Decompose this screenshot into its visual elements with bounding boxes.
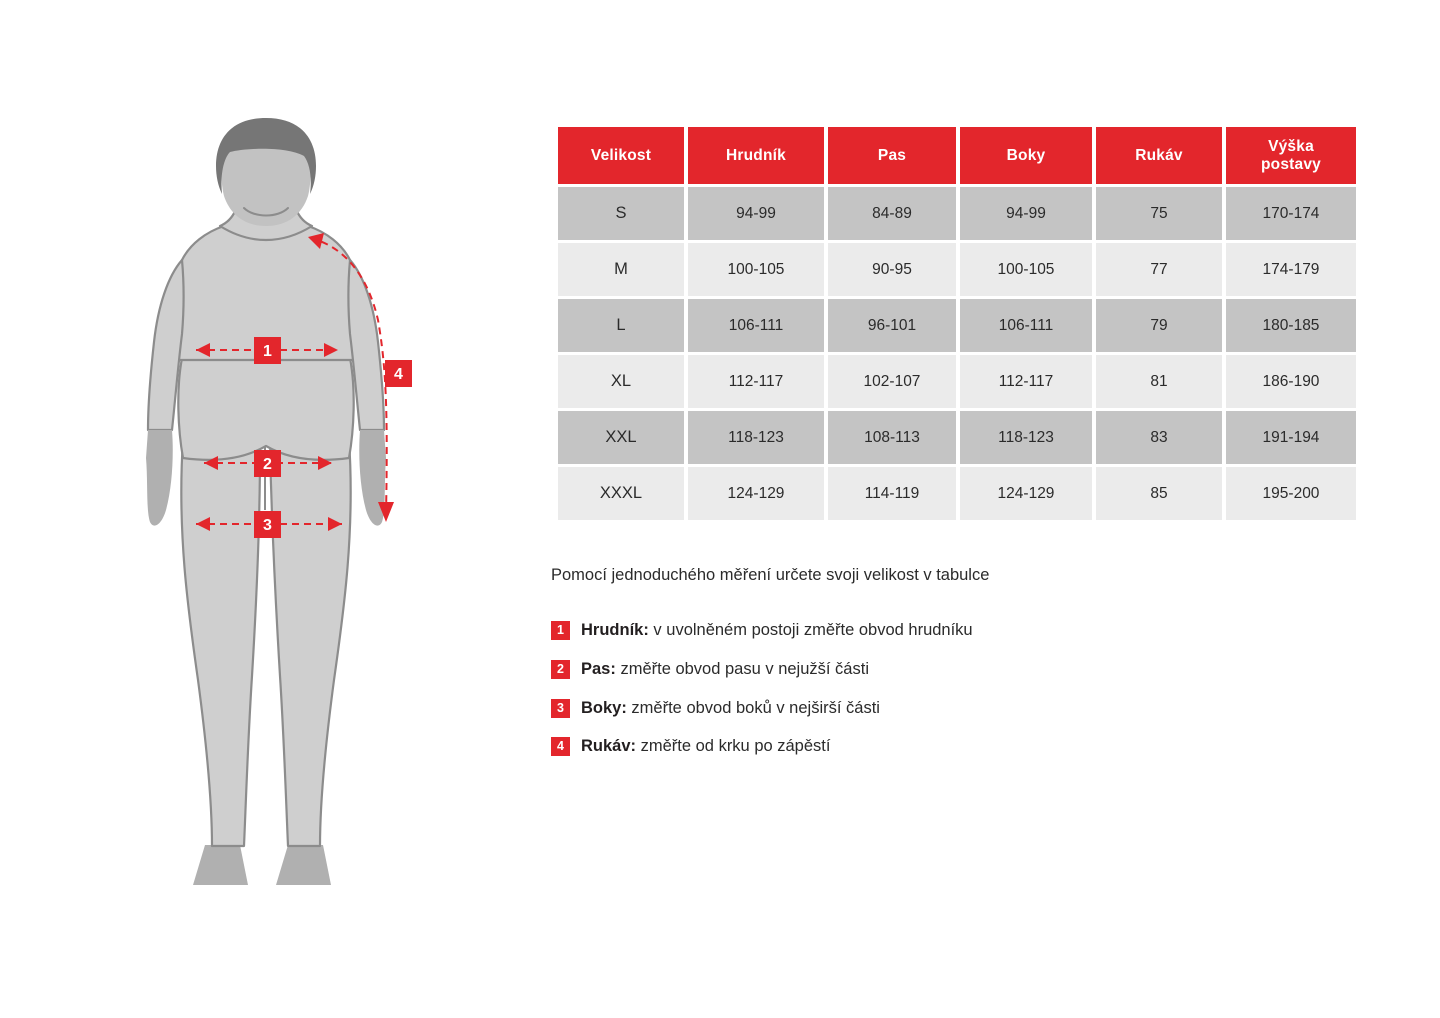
left-hand bbox=[146, 430, 173, 526]
column-header-hips: Boky bbox=[960, 127, 1092, 184]
legend-badge-2: 2 bbox=[551, 660, 570, 679]
cell-chest: 94-99 bbox=[688, 187, 824, 240]
table-row: XXL 118-123 108-113 118-123 83 191-194 bbox=[558, 411, 1356, 464]
legend-badge-3: 3 bbox=[551, 699, 570, 718]
cell-size: L bbox=[558, 299, 684, 352]
column-header-waist: Pas bbox=[828, 127, 956, 184]
cell-waist: 102-107 bbox=[828, 355, 956, 408]
cell-hips: 112-117 bbox=[960, 355, 1092, 408]
cell-height: 191-194 bbox=[1226, 411, 1356, 464]
column-header-sleeve: Rukáv bbox=[1096, 127, 1222, 184]
legend-term-sleeve: Rukáv: bbox=[581, 737, 636, 755]
legend-text-sleeve: Rukáv: změřte od krku po zápěstí bbox=[581, 736, 830, 757]
legend-item-chest: 1 Hrudník: v uvolněném postoji změřte ob… bbox=[551, 620, 1291, 641]
cell-height: 195-200 bbox=[1226, 467, 1356, 520]
cell-size: M bbox=[558, 243, 684, 296]
cell-chest: 118-123 bbox=[688, 411, 824, 464]
legend-item-sleeve: 4 Rukáv: změřte od krku po zápěstí bbox=[551, 736, 1291, 757]
cell-hips: 124-129 bbox=[960, 467, 1092, 520]
body-figure-illustration: 1 2 3 bbox=[120, 110, 460, 900]
cell-waist: 96-101 bbox=[828, 299, 956, 352]
column-header-height-line1: Výška bbox=[1268, 138, 1314, 155]
legend-item-waist: 2 Pas: změřte obvod pasu v nejužší části bbox=[551, 659, 1291, 680]
legend-item-hips: 3 Boky: změřte obvod boků v nejširší čás… bbox=[551, 698, 1291, 719]
right-foot bbox=[276, 845, 331, 885]
legend-badge-1: 1 bbox=[551, 621, 570, 640]
legend-term-chest: Hrudník: bbox=[581, 621, 649, 639]
svg-text:2: 2 bbox=[263, 456, 272, 473]
cell-hips: 118-123 bbox=[960, 411, 1092, 464]
cell-sleeve: 85 bbox=[1096, 467, 1222, 520]
cell-height: 170-174 bbox=[1226, 187, 1356, 240]
cell-sleeve: 83 bbox=[1096, 411, 1222, 464]
pelvis bbox=[178, 358, 353, 460]
right-leg bbox=[270, 440, 351, 846]
cell-hips: 100-105 bbox=[960, 243, 1092, 296]
legend-text-hips: Boky: změřte obvod boků v nejširší části bbox=[581, 698, 880, 719]
legend-term-waist: Pas: bbox=[581, 660, 616, 678]
cell-height: 174-179 bbox=[1226, 243, 1356, 296]
left-leg bbox=[181, 440, 260, 846]
svg-text:3: 3 bbox=[263, 517, 272, 534]
cell-waist: 84-89 bbox=[828, 187, 956, 240]
size-chart-table: Velikost Hrudník Pas Boky Rukáv Výška po… bbox=[554, 124, 1360, 523]
body-silhouette bbox=[146, 118, 386, 885]
cell-hips: 106-111 bbox=[960, 299, 1092, 352]
cell-waist: 90-95 bbox=[828, 243, 956, 296]
cell-chest: 124-129 bbox=[688, 467, 824, 520]
legend-desc-waist: změřte obvod pasu v nejužší části bbox=[616, 660, 869, 678]
cell-waist: 108-113 bbox=[828, 411, 956, 464]
cell-chest: 106-111 bbox=[688, 299, 824, 352]
cell-height: 186-190 bbox=[1226, 355, 1356, 408]
column-header-chest: Hrudník bbox=[688, 127, 824, 184]
table-row: S 94-99 84-89 94-99 75 170-174 bbox=[558, 187, 1356, 240]
cell-sleeve: 77 bbox=[1096, 243, 1222, 296]
table-row: M 100-105 90-95 100-105 77 174-179 bbox=[558, 243, 1356, 296]
cell-chest: 112-117 bbox=[688, 355, 824, 408]
cell-size: S bbox=[558, 187, 684, 240]
legend-text-chest: Hrudník: v uvolněném postoji změřte obvo… bbox=[581, 620, 973, 641]
legend-desc-hips: změřte obvod boků v nejširší části bbox=[627, 699, 880, 717]
cell-waist: 114-119 bbox=[828, 467, 956, 520]
table-header-row: Velikost Hrudník Pas Boky Rukáv Výška po… bbox=[558, 127, 1356, 184]
svg-text:4: 4 bbox=[394, 366, 403, 383]
cell-sleeve: 79 bbox=[1096, 299, 1222, 352]
cell-chest: 100-105 bbox=[688, 243, 824, 296]
column-header-size: Velikost bbox=[558, 127, 684, 184]
table-row: XL 112-117 102-107 112-117 81 186-190 bbox=[558, 355, 1356, 408]
cell-sleeve: 75 bbox=[1096, 187, 1222, 240]
cell-hips: 94-99 bbox=[960, 187, 1092, 240]
legend-text-waist: Pas: změřte obvod pasu v nejužší části bbox=[581, 659, 869, 680]
left-foot bbox=[193, 845, 248, 885]
instructions-block: Pomocí jednoduchého měření určete svoji … bbox=[551, 565, 1291, 775]
svg-text:1: 1 bbox=[263, 343, 272, 360]
table-row: L 106-111 96-101 106-111 79 180-185 bbox=[558, 299, 1356, 352]
legend-desc-chest: v uvolněném postoji změřte obvod hrudník… bbox=[649, 621, 973, 639]
cell-size: XXL bbox=[558, 411, 684, 464]
instructions-intro: Pomocí jednoduchého měření určete svoji … bbox=[551, 565, 1291, 586]
table-row: XXXL 124-129 114-119 124-129 85 195-200 bbox=[558, 467, 1356, 520]
legend-desc-sleeve: změřte od krku po zápěstí bbox=[636, 737, 830, 755]
legend-badge-4: 4 bbox=[551, 737, 570, 756]
table-body: S 94-99 84-89 94-99 75 170-174 M 100-105… bbox=[558, 187, 1356, 520]
cell-height: 180-185 bbox=[1226, 299, 1356, 352]
column-header-height-line2: postavy bbox=[1261, 156, 1321, 173]
cell-size: XXXL bbox=[558, 467, 684, 520]
legend-term-hips: Boky: bbox=[581, 699, 627, 717]
cell-sleeve: 81 bbox=[1096, 355, 1222, 408]
column-header-height: Výška postavy bbox=[1226, 127, 1356, 184]
cell-size: XL bbox=[558, 355, 684, 408]
